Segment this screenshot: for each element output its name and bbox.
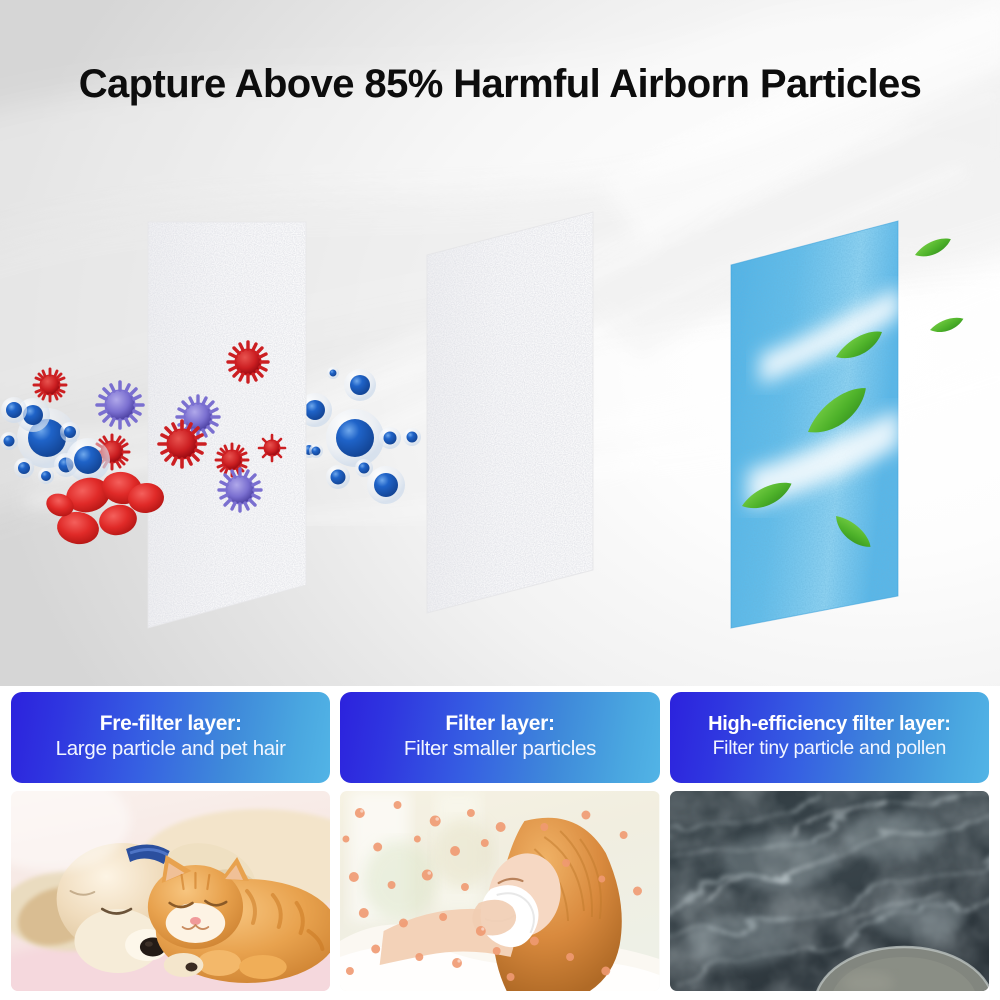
caption-title: Filter layer: <box>445 712 554 737</box>
smoke-haze-photo <box>670 791 989 991</box>
virus-particle <box>159 421 205 467</box>
filter-layer-1-prefilter <box>148 222 306 628</box>
photo-row <box>11 791 989 991</box>
puppy-and-kitten-photo <box>11 791 330 991</box>
caption-card-filter[interactable]: Filter layer: Filter smaller particles <box>340 692 659 783</box>
caption-title: Fre-filter layer: <box>100 712 242 737</box>
caption-subtitle: Large particle and pet hair <box>56 737 286 762</box>
sneezing-girl-graphic <box>340 791 659 991</box>
layer-caption-cards: Fre-filter layer: Large particle and pet… <box>11 692 989 783</box>
virus-particle <box>228 342 268 382</box>
caption-title: High-efficiency filter layer: <box>708 713 950 737</box>
virus-particle <box>259 435 285 461</box>
caption-subtitle: Filter smaller particles <box>404 737 596 762</box>
filter-layer-2-white <box>427 212 593 613</box>
filter-layer-3-blue <box>731 221 965 628</box>
hero-illustration: Capture Above 85% Harmful Airborn Partic… <box>0 0 1000 686</box>
sneezing-girl-photo <box>340 791 659 991</box>
puppy-kitten-graphic <box>11 791 330 991</box>
virus-particle <box>97 382 143 428</box>
virus-particle <box>34 369 66 401</box>
caption-subtitle: Filter tiny particle and pollen <box>713 737 947 760</box>
virus-particle <box>219 469 261 511</box>
caption-card-high-efficiency[interactable]: High-efficiency filter layer: Filter tin… <box>670 692 989 783</box>
caption-card-prefilter[interactable]: Fre-filter layer: Large particle and pet… <box>11 692 330 783</box>
page-title: Capture Above 85% Harmful Airborn Partic… <box>0 62 1000 107</box>
smoke-graphic <box>670 791 989 991</box>
